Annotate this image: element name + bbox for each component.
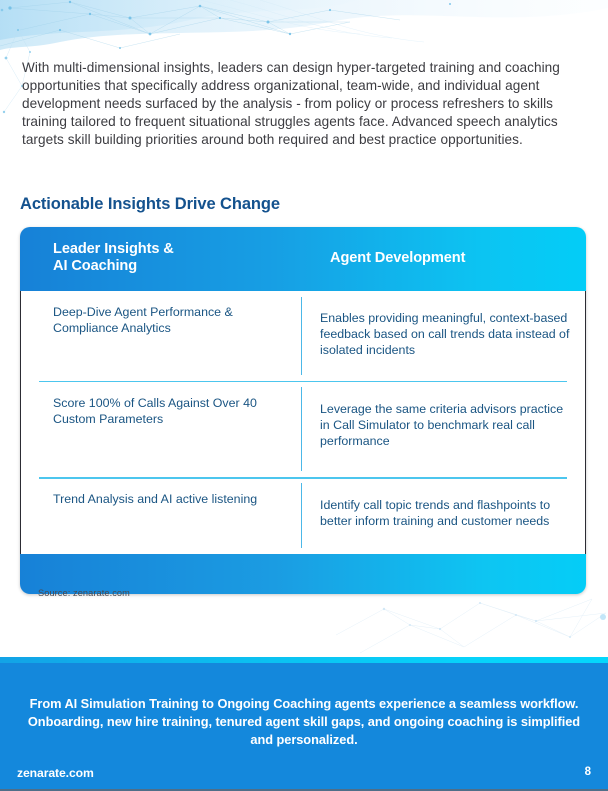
- table-header-leader-insights-line2: AI Coaching: [53, 258, 137, 274]
- table-header-row: Leader Insights & AI Coaching Agent Deve…: [20, 227, 586, 291]
- table-cell-agent-development: Enables providing meaningful, context-ba…: [301, 297, 585, 375]
- document-page: With multi-dimensional insights, leaders…: [0, 0, 608, 791]
- network-decoration-bottom: [330, 595, 608, 655]
- insights-table: Leader Insights & AI Coaching Agent Deve…: [20, 227, 586, 594]
- table-cell-leader-insights: Score 100% of Calls Against Over 40 Cust…: [21, 381, 301, 478]
- footer-accent-strip: [0, 657, 608, 663]
- table-cell-agent-development: Identify call topic trends and flashpoin…: [301, 483, 585, 547]
- table-header-leader-insights-line1: Leader Insights &: [53, 241, 174, 257]
- table-cell-leader-insights: Deep-Dive Agent Performance & Compliance…: [21, 291, 301, 381]
- source-note: Source: zenarate.com: [38, 588, 130, 598]
- intro-paragraph: With multi-dimensional insights, leaders…: [22, 59, 582, 149]
- page-number: 8: [585, 766, 591, 778]
- table-header-agent-development: Agent Development: [305, 250, 586, 267]
- table-row: Deep-Dive Agent Performance & Compliance…: [21, 291, 585, 381]
- table-row: Trend Analysis and AI active listening I…: [21, 477, 585, 553]
- table-cell-agent-development: Leverage the same criteria advisors prac…: [301, 387, 585, 472]
- footer-brand-link[interactable]: zenarate.com: [17, 766, 94, 780]
- table-body: Deep-Dive Agent Performance & Compliance…: [20, 291, 586, 554]
- page-title: Actionable Insights Drive Change: [20, 195, 280, 214]
- table-header-leader-insights: Leader Insights & AI Coaching: [20, 241, 305, 275]
- footer-callout-text: From AI Simulation Training to Ongoing C…: [26, 695, 582, 748]
- table-cell-leader-insights: Trend Analysis and AI active listening: [21, 477, 301, 553]
- table-row: Score 100% of Calls Against Over 40 Cust…: [21, 381, 585, 478]
- network-decoration-top: [0, 0, 608, 60]
